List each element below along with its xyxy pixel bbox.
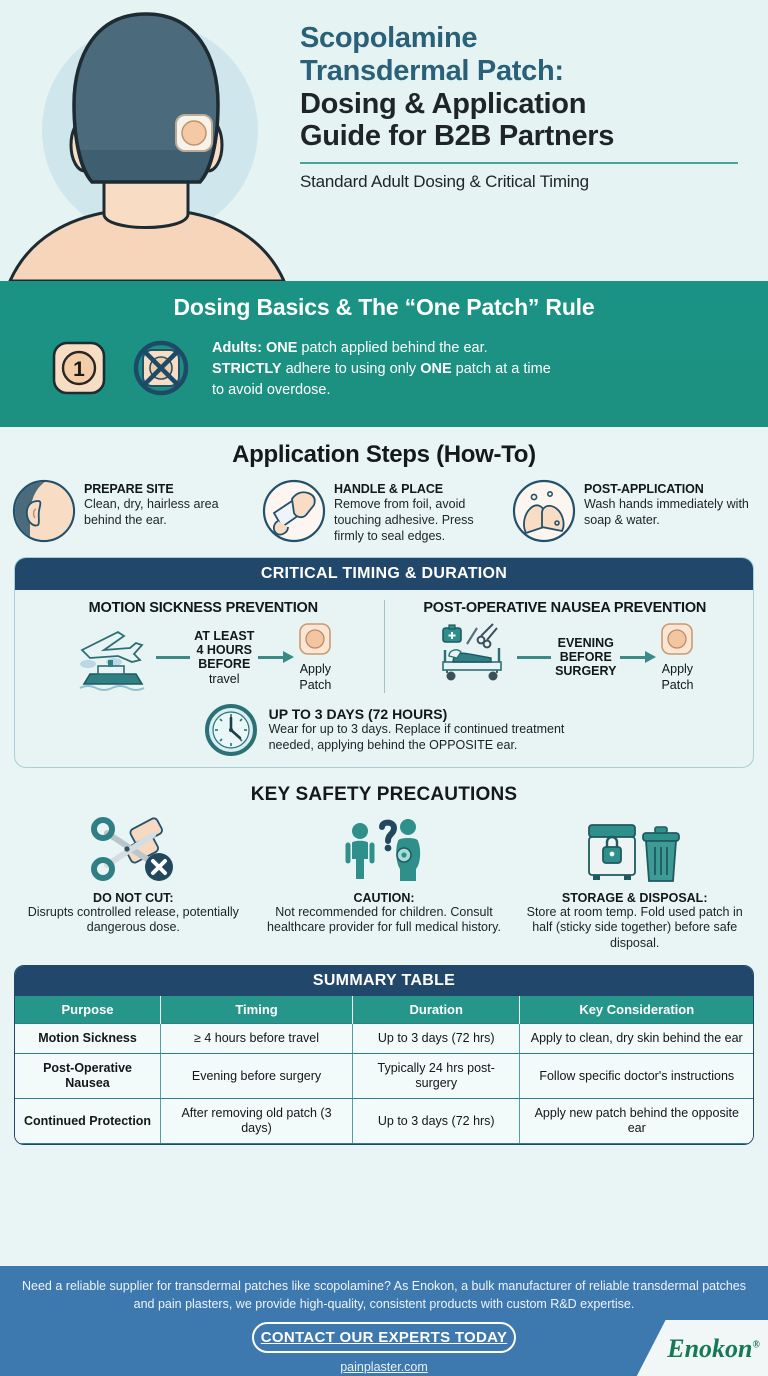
dosing-one-strong-2: ONE xyxy=(420,361,451,377)
safety-heading-label: STORAGE & DISPOSAL: xyxy=(511,891,758,905)
table-cell: Post-Operative Nausea xyxy=(15,1054,161,1099)
step-heading: PREPARE SITE xyxy=(84,482,256,496)
contact-experts-button[interactable]: CONTACT OUR EXPERTS TODAY xyxy=(252,1322,516,1353)
table-col-timing: Timing xyxy=(161,996,353,1024)
no-multiple-patch-icon xyxy=(128,335,194,401)
when-line-2: BEFORE xyxy=(555,650,616,664)
dosing-strictly-strong: STRICTLY xyxy=(212,361,282,377)
duration-text-line2: needed, applying behind the OPPOSITE ear… xyxy=(269,738,565,754)
when-line-3: SURGERY xyxy=(555,664,616,678)
apply-label-2: Patch xyxy=(660,679,694,693)
safety-item: CAUTION: Not recommended for children. C… xyxy=(261,814,508,952)
page-title-line3: Dosing & Application xyxy=(300,88,738,121)
table-cell: After removing old patch (3 days) xyxy=(161,1099,353,1144)
footer-copy: Need a reliable supplier for transdermal… xyxy=(0,1266,768,1313)
timing-card: CRITICAL TIMING & DURATION MOTION SICKNE… xyxy=(14,557,754,768)
flow-arrow-icon xyxy=(258,651,294,663)
header: Scopolamine Transdermal Patch: Dosing & … xyxy=(0,0,768,281)
timing-when-motion: AT LEAST 4 HOURS BEFORE travel xyxy=(194,629,254,687)
summary-table-wrapper: SUMMARY TABLE Purpose Timing Duration Ke… xyxy=(14,965,754,1145)
hospital-bed-surgery-icon xyxy=(435,622,513,692)
dosing-band: Dosing Basics & The “One Patch” Rule 1 xyxy=(0,281,768,427)
dosing-line2-mid: adhere to using only xyxy=(282,361,421,377)
page-title-line1: Scopolamine xyxy=(300,22,738,55)
when-line-4: travel xyxy=(194,672,254,686)
apply-label-1: Apply xyxy=(298,663,332,677)
safety-text: Not recommended for children. Consult he… xyxy=(261,905,508,936)
table-cell: Up to 3 days (72 hrs) xyxy=(352,1024,520,1054)
safety-items: DO NOT CUT: Disrupts controlled release,… xyxy=(0,814,768,952)
dosing-line-1: Adults: ONE patch applied behind the ear… xyxy=(212,338,551,359)
duration-row: UP TO 3 DAYS (72 HOURS) Wear for up to 3… xyxy=(23,703,745,757)
header-text: Scopolamine Transdermal Patch: Dosing & … xyxy=(292,0,768,281)
flow-arrow-icon xyxy=(620,651,656,663)
table-col-duration: Duration xyxy=(352,996,520,1024)
page-title-line2: Transdermal Patch: xyxy=(300,55,738,88)
one-patch-icon: 1 xyxy=(48,337,110,399)
table-cell: Follow specific doctor's instructions xyxy=(520,1054,753,1099)
step-heading: HANDLE & PLACE xyxy=(334,482,506,496)
dosing-line2-rest: patch at a time xyxy=(452,361,551,377)
brand-name: Enokon xyxy=(667,1334,752,1363)
step-item: PREPARE SITE Clean, dry, hairless area b… xyxy=(12,479,256,544)
flow-connector xyxy=(517,656,551,659)
safety-heading-label: CAUTION: xyxy=(261,891,508,905)
timing-col-heading: POST-OPERATIVE NAUSEA PREVENTION xyxy=(391,600,740,616)
flow-connector xyxy=(156,656,190,659)
steps-heading: Application Steps (How-To) xyxy=(0,441,768,469)
timing-col-motion-sickness: MOTION SICKNESS PREVENTION xyxy=(23,600,384,693)
summary-table-title: SUMMARY TABLE xyxy=(15,966,753,996)
brand-logo: Enokon® xyxy=(667,1334,760,1364)
when-line-1: AT LEAST xyxy=(194,629,254,643)
timing-col-postop-nausea: POST-OPERATIVE NAUSEA PREVENTION xyxy=(384,600,746,693)
washing-hands-icon xyxy=(512,479,576,543)
table-row: Motion Sickness ≥ 4 hours before travel … xyxy=(15,1024,753,1054)
head-back-with-patch-icon xyxy=(0,0,292,281)
dosing-line-3: to avoid overdose. xyxy=(212,380,551,401)
safety-heading-label: DO NOT CUT: xyxy=(10,891,257,905)
dosing-adults-label: Adults: xyxy=(212,340,266,356)
duration-heading: UP TO 3 DAYS (72 HOURS) xyxy=(269,706,565,722)
dosing-one-strong: ONE xyxy=(266,340,297,356)
when-line-3: BEFORE xyxy=(194,657,254,671)
apply-patch-block: Apply Patch xyxy=(298,622,332,693)
scissors-no-cut-icon xyxy=(10,814,257,888)
safety-heading: KEY SAFETY PRECAUTIONS xyxy=(0,784,768,806)
hand-peeling-patch-icon xyxy=(262,479,326,543)
plane-and-ship-icon xyxy=(74,622,152,692)
step-text: Remove from foil, avoid touching adhesiv… xyxy=(334,496,506,544)
table-header-row: Purpose Timing Duration Key Consideratio… xyxy=(15,996,753,1024)
table-cell: Evening before surgery xyxy=(161,1054,353,1099)
when-line-2: 4 HOURS xyxy=(194,643,254,657)
title-divider xyxy=(300,162,738,164)
summary-table: Purpose Timing Duration Key Consideratio… xyxy=(15,996,753,1144)
dosing-heading: Dosing Basics & The “One Patch” Rule xyxy=(0,294,768,321)
apply-label-2: Patch xyxy=(298,679,332,693)
when-line-1: EVENING xyxy=(555,636,616,650)
table-row: Continued Protection After removing old … xyxy=(15,1099,753,1144)
page-title-line4: Guide for B2B Partners xyxy=(300,120,738,153)
header-illustration xyxy=(0,0,292,281)
table-cell: Up to 3 days (72 hrs) xyxy=(352,1099,520,1144)
duration-text-line1: Wear for up to 3 days. Replace if contin… xyxy=(269,722,565,738)
timing-col-heading: MOTION SICKNESS PREVENTION xyxy=(29,600,378,616)
table-cell: Continued Protection xyxy=(15,1099,161,1144)
safety-text: Disrupts controlled release, potentially… xyxy=(10,905,257,936)
patch-icon xyxy=(660,622,694,656)
table-cell: Motion Sickness xyxy=(15,1024,161,1054)
duration-text-block: UP TO 3 DAYS (72 HOURS) Wear for up to 3… xyxy=(269,706,565,753)
table-col-key-consideration: Key Consideration xyxy=(520,996,753,1024)
dosing-line1-rest: patch applied behind the ear. xyxy=(297,340,487,356)
infographic-page: Scopolamine Transdermal Patch: Dosing & … xyxy=(0,0,768,1376)
step-text: Clean, dry, hairless area behind the ear… xyxy=(84,496,256,528)
footer: Need a reliable supplier for transdermal… xyxy=(0,1266,768,1376)
table-cell: Apply to clean, dry skin behind the ear xyxy=(520,1024,753,1054)
step-item: HANDLE & PLACE Remove from foil, avoid t… xyxy=(262,479,506,544)
safety-item: STORAGE & DISPOSAL: Store at room temp. … xyxy=(511,814,758,952)
table-cell: Apply new patch behind the opposite ear xyxy=(520,1099,753,1144)
one-badge-number: 1 xyxy=(73,358,85,381)
safety-item: DO NOT CUT: Disrupts controlled release,… xyxy=(10,814,257,952)
step-heading: POST-APPLICATION xyxy=(584,482,756,496)
child-and-pregnant-question-icon xyxy=(261,814,508,888)
timing-when-postop: EVENING BEFORE SURGERY xyxy=(555,636,616,679)
application-steps: PREPARE SITE Clean, dry, hairless area b… xyxy=(0,479,768,544)
clock-icon xyxy=(204,703,258,757)
patch-icon xyxy=(298,622,332,656)
step-text: Wash hands immediately with soap & water… xyxy=(584,496,756,528)
registered-mark: ® xyxy=(753,1339,760,1350)
ear-behind-icon xyxy=(12,479,76,543)
apply-patch-block: Apply Patch xyxy=(660,622,694,693)
table-cell: ≥ 4 hours before travel xyxy=(161,1024,353,1054)
lockbox-and-trash-icon xyxy=(511,814,758,888)
dosing-copy: Adults: ONE patch applied behind the ear… xyxy=(212,333,551,401)
table-row: Post-Operative Nausea Evening before sur… xyxy=(15,1054,753,1099)
table-col-purpose: Purpose xyxy=(15,996,161,1024)
safety-text: Store at room temp. Fold used patch in h… xyxy=(511,905,758,952)
dosing-icons: 1 xyxy=(48,333,194,401)
apply-label-1: Apply xyxy=(660,663,694,677)
step-item: POST-APPLICATION Wash hands immediately … xyxy=(512,479,756,544)
page-subtitle: Standard Adult Dosing & Critical Timing xyxy=(300,172,738,192)
dosing-line-2: STRICTLY adhere to using only ONE patch … xyxy=(212,359,551,380)
table-cell: Typically 24 hrs post-surgery xyxy=(352,1054,520,1099)
timing-card-title: CRITICAL TIMING & DURATION xyxy=(15,558,753,590)
